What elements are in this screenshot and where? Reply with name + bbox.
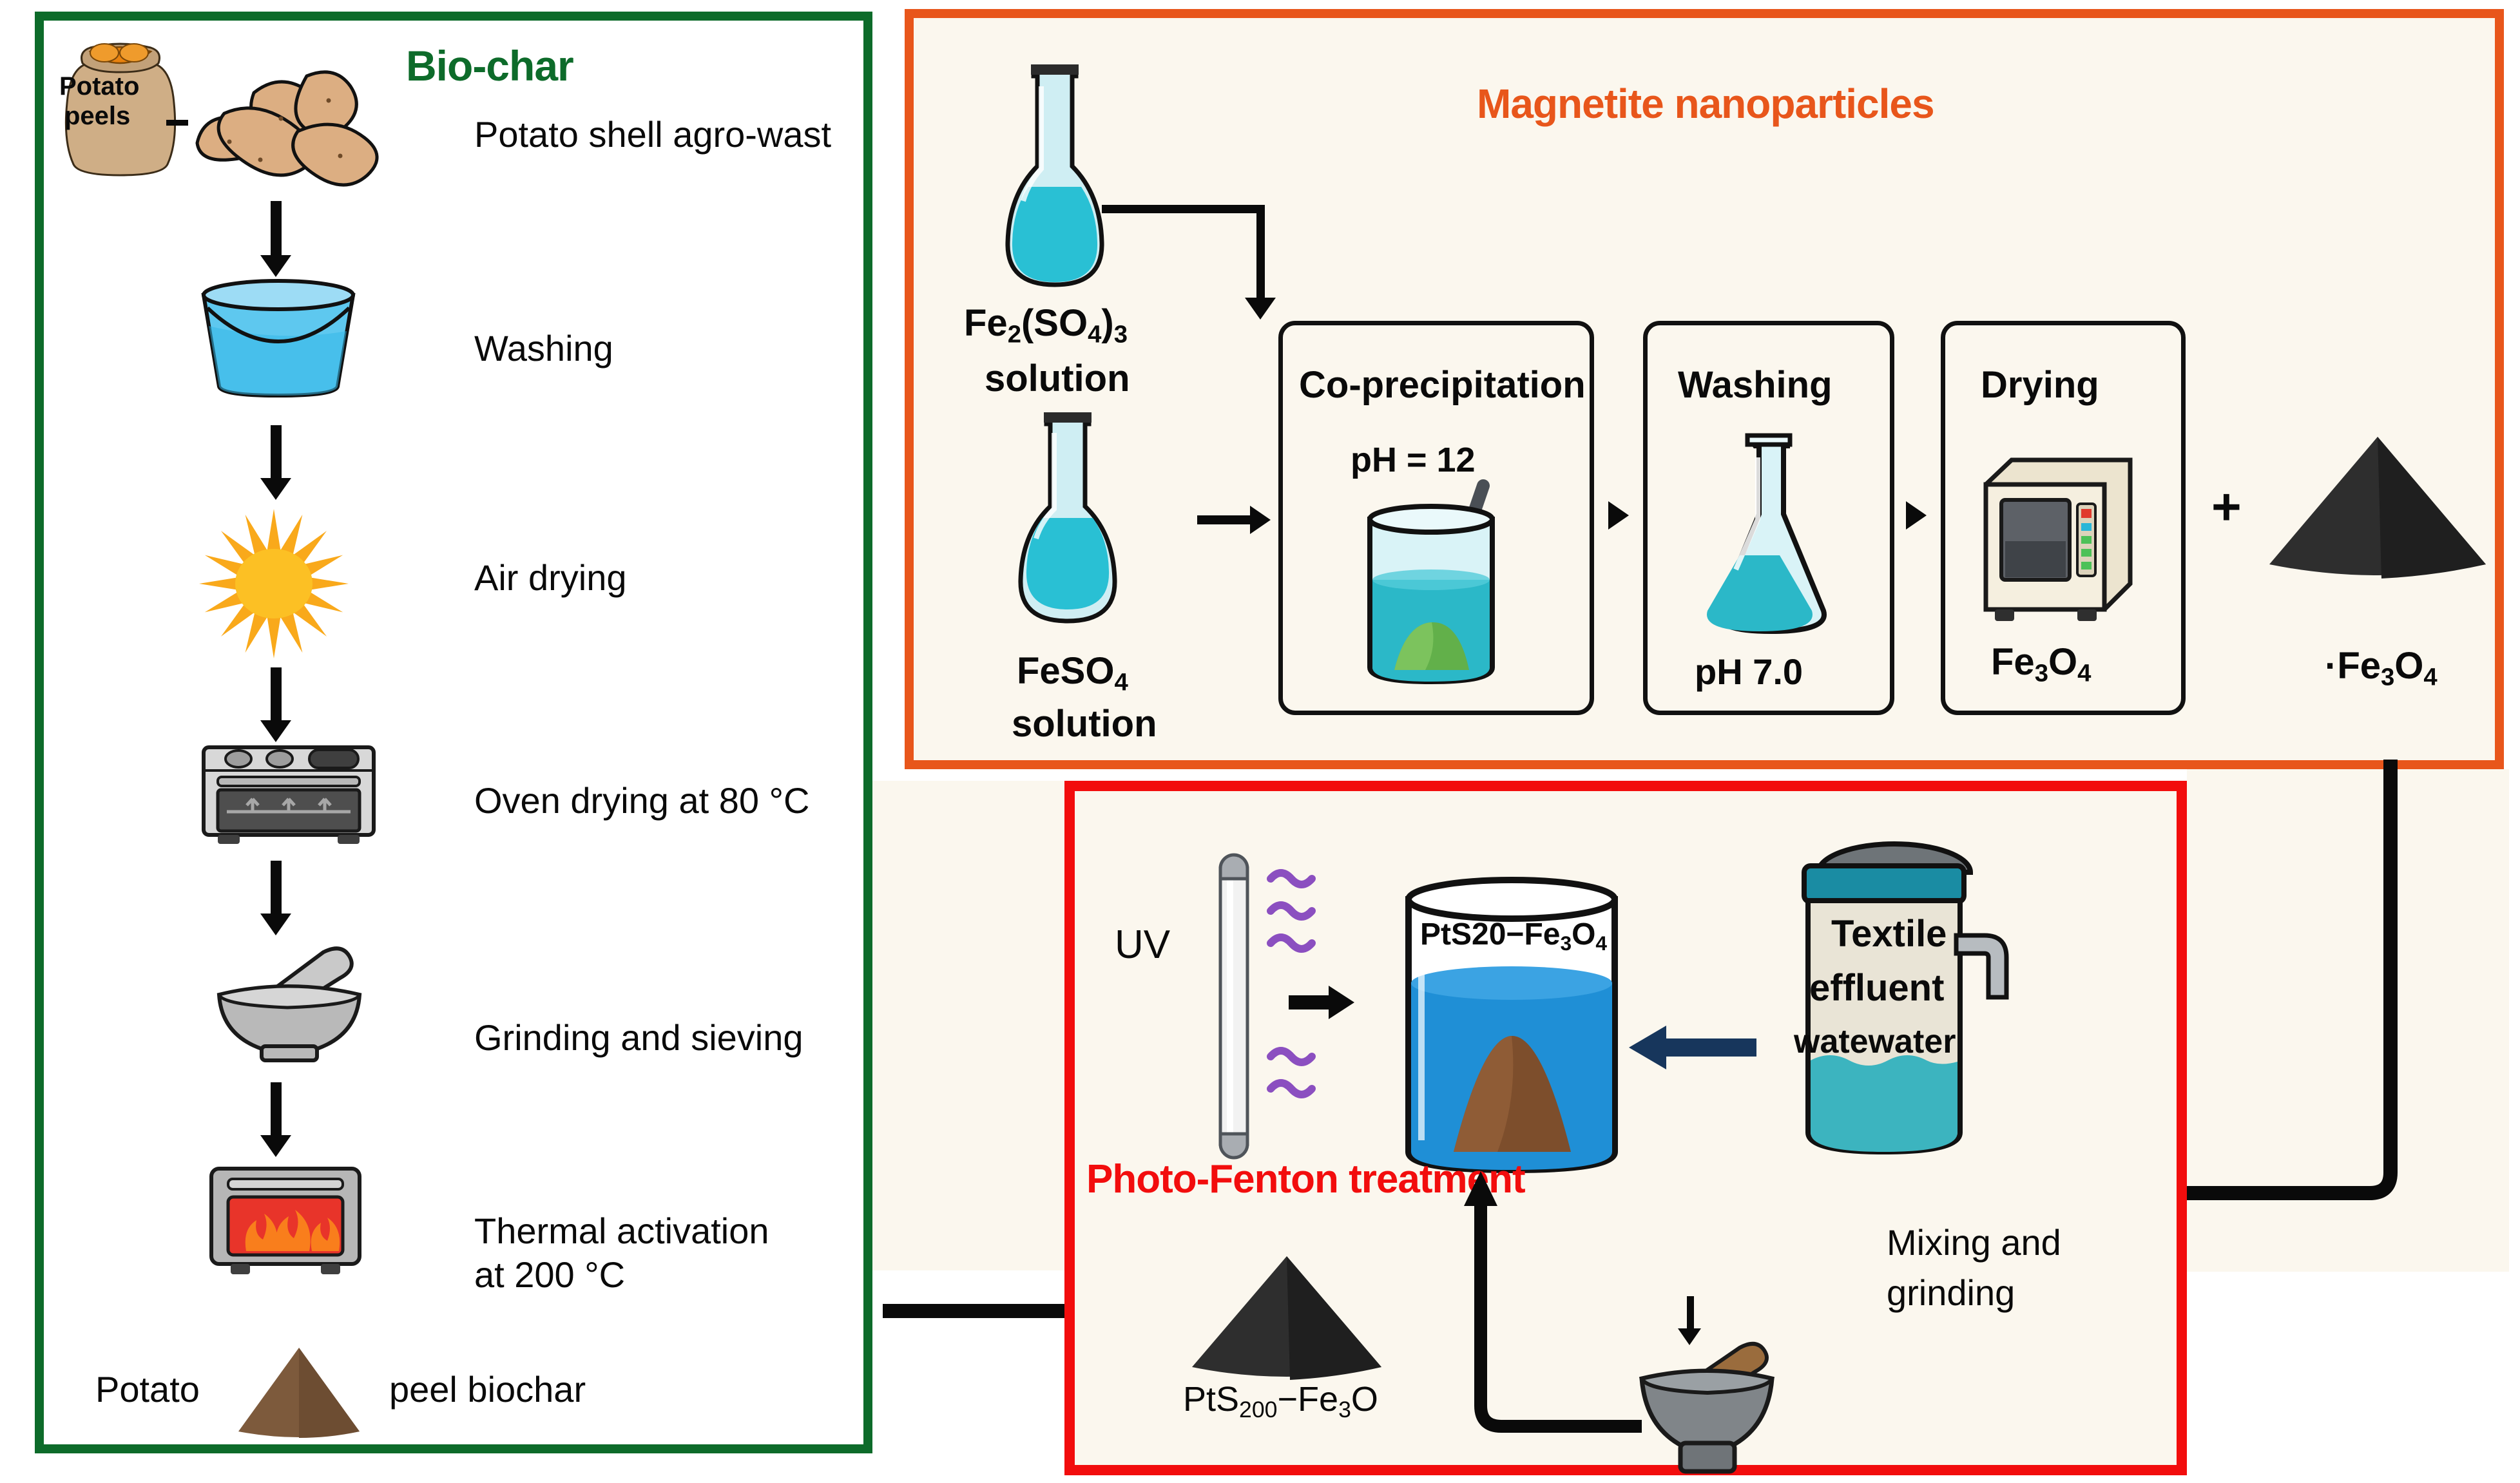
flow-arrow-1-head (260, 255, 291, 277)
beaker-label: PtS20−Fe3O4 (1420, 917, 1607, 955)
magnetite-powder-pile-icon (2255, 428, 2500, 589)
magnetite-product-label: ·Fe3O4 (2325, 646, 2438, 692)
step-label-1: Washing (474, 329, 613, 369)
magnetite-to-mixing-connector (2152, 767, 2423, 1218)
uv-lamp-icon (1211, 839, 1256, 1174)
potatoes-pile-icon (184, 59, 397, 188)
fe2so43-label-formula: Fe2(SO4)3 (964, 303, 1128, 349)
uv-to-beaker-arrow-shaft (1289, 995, 1331, 1009)
mortar-pestle-icon (191, 941, 384, 1063)
plus-symbol: + (2211, 478, 2242, 536)
flow-arrow-5-head (260, 1135, 291, 1157)
coprecipitation-ph-value: pH = 12 (1351, 441, 1476, 479)
effluent-to-beaker-arrow-shaft (1666, 1038, 1756, 1057)
magnetite-panel-title: Magnetite nanoparticles (1477, 81, 1934, 128)
effluent-label-line3: watewater (1794, 1023, 1956, 1060)
graphical-abstract: Bio-char Potato peels Potato shell agro-… (0, 0, 2520, 1483)
potato-peels-bag-label-line2: peels (64, 102, 130, 131)
sun-icon (193, 506, 354, 661)
flow-arrow-4-head (260, 914, 291, 935)
top-flask-arrow-horizontal (1102, 205, 1263, 213)
step-label-0: Potato shell agro-wast (474, 115, 831, 155)
feso4-flask-icon (1006, 410, 1129, 629)
step-label-4: Grinding and sieving (474, 1018, 803, 1058)
effluent-label-line1: Textile (1831, 914, 1947, 955)
fe2so43-label-solution: solution (985, 358, 1130, 400)
top-flask-arrow-vertical (1256, 205, 1265, 300)
uv-wave-icon (1264, 863, 1342, 1198)
potato-peels-bag-label-line1: Potato (59, 72, 139, 101)
step-label-5-line1: Thermal activation (474, 1211, 769, 1252)
flow-arrow-3-shaft (271, 667, 282, 723)
biochar-panel-title: Bio-char (406, 43, 573, 90)
flow-arrow-4-shaft (271, 861, 282, 916)
uv-label: UV (1115, 923, 1170, 967)
washing-to-drying-arrow (1906, 501, 1927, 530)
step-label-2: Air drying (474, 558, 627, 598)
coprecipitation-header: Co-precipitation (1299, 365, 1586, 407)
mixing-label-line1: Mixing and (1887, 1223, 2061, 1263)
drying-product-value: Fe3O4 (1991, 642, 2091, 688)
composite-label: PtS200−Fe3O (1183, 1380, 1378, 1423)
background-blob-left (872, 781, 1072, 1270)
feso4-label-formula: FeSO4 (1017, 651, 1128, 697)
washing-ph-value: pH 7.0 (1695, 652, 1803, 693)
flow-arrow-2-head (260, 478, 291, 500)
erlenmeyer-flask-icon (1701, 432, 1836, 644)
fe2so43-flask-icon (994, 61, 1116, 292)
mixing-label-line2: grinding (1887, 1273, 2015, 1314)
step-label-5-line2: at 200 °C (474, 1255, 625, 1296)
coprecipitation-to-washing-arrow (1608, 501, 1629, 530)
oven-icon (198, 745, 379, 848)
washing-header: Washing (1678, 365, 1832, 407)
biochar-to-fenton-connector (883, 1304, 1088, 1318)
drying-header: Drying (1981, 365, 2099, 407)
biochar-product-suffix: peel biochar (389, 1370, 586, 1410)
flow-arrow-2-shaft (271, 425, 282, 481)
biochar-product-prefix: Potato (95, 1370, 200, 1410)
uv-to-beaker-arrow (1329, 986, 1354, 1019)
bucket-icon (188, 278, 369, 401)
biochar-powder-pile-icon (222, 1344, 376, 1440)
effluent-to-beaker-arrow-head (1629, 1026, 1666, 1069)
reaction-beaker-icon (1383, 857, 1640, 1192)
flow-arrow-3-head (260, 720, 291, 742)
step-label-3: Oven drying at 80 °C (474, 781, 809, 821)
furnace-icon (205, 1165, 366, 1281)
bottom-flask-arrow-shaft (1197, 515, 1251, 524)
feso4-label-solution: solution (1012, 703, 1157, 745)
mixing-down-arrow-shaft (1687, 1296, 1694, 1332)
flow-arrow-1-shaft (271, 201, 282, 258)
effluent-label-line2: effluent (1809, 968, 1944, 1009)
flow-arrow-5-shaft (271, 1082, 282, 1138)
composite-powder-pile-icon (1180, 1249, 1393, 1390)
drying-oven-icon (1964, 445, 2157, 631)
beaker-with-stir-rod-icon (1331, 477, 1537, 702)
mixing-mortar-pestle-icon (1619, 1339, 1793, 1478)
bottom-flask-arrow-head (1250, 506, 1271, 534)
composite-to-beaker-connector (1450, 1171, 1643, 1442)
top-flask-arrow-head (1245, 298, 1276, 320)
